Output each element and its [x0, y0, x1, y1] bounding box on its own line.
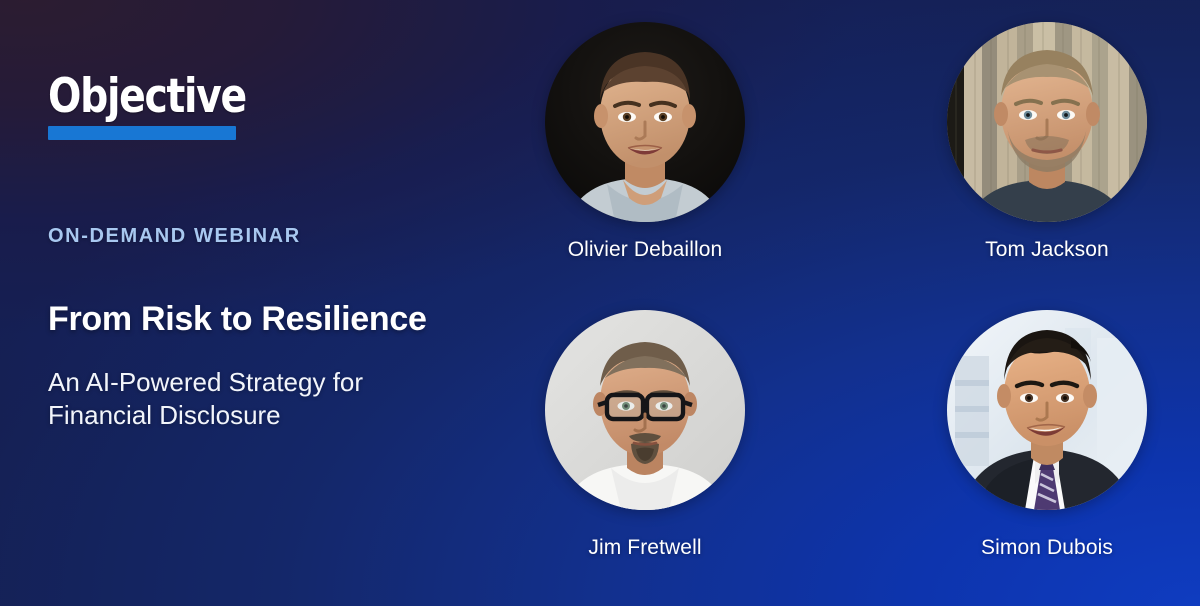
- objective-logo: Objective: [48, 74, 248, 140]
- headshot-jim-fretwell: [545, 310, 745, 510]
- logo-wordmark: Objective: [48, 74, 234, 120]
- page-subtitle: An AI-Powered Strategy for Financial Dis…: [48, 366, 478, 432]
- webinar-promo-banner: Objective ON-DEMAND WEBINAR From Risk to…: [0, 0, 1200, 606]
- hero-text-panel: Objective ON-DEMAND WEBINAR From Risk to…: [48, 0, 518, 606]
- speaker-name: Tom Jackson: [942, 238, 1152, 262]
- headshot-olivier-debaillon: [545, 22, 745, 222]
- headshot-simon-dubois: [947, 310, 1147, 510]
- logo-underline-bar: [48, 126, 236, 140]
- speaker-name: Olivier Debaillon: [540, 238, 750, 262]
- subtitle-line-1: An AI-Powered Strategy for: [48, 366, 478, 399]
- speaker-card: Tom Jackson: [942, 22, 1152, 262]
- page-title: From Risk to Resilience: [48, 300, 427, 339]
- subtitle-line-2: Financial Disclosure: [48, 399, 478, 432]
- webinar-eyebrow-label: ON-DEMAND WEBINAR: [48, 225, 301, 248]
- speaker-card: Jim Fretwell: [540, 310, 750, 560]
- speaker-name: Jim Fretwell: [540, 536, 750, 560]
- headshot-tom-jackson: [947, 22, 1147, 222]
- speaker-card: Olivier Debaillon: [540, 22, 750, 262]
- speakers-grid: Olivier Debaillon: [520, 0, 1200, 606]
- speaker-card: Simon Dubois: [942, 310, 1152, 560]
- speaker-name: Simon Dubois: [942, 536, 1152, 560]
